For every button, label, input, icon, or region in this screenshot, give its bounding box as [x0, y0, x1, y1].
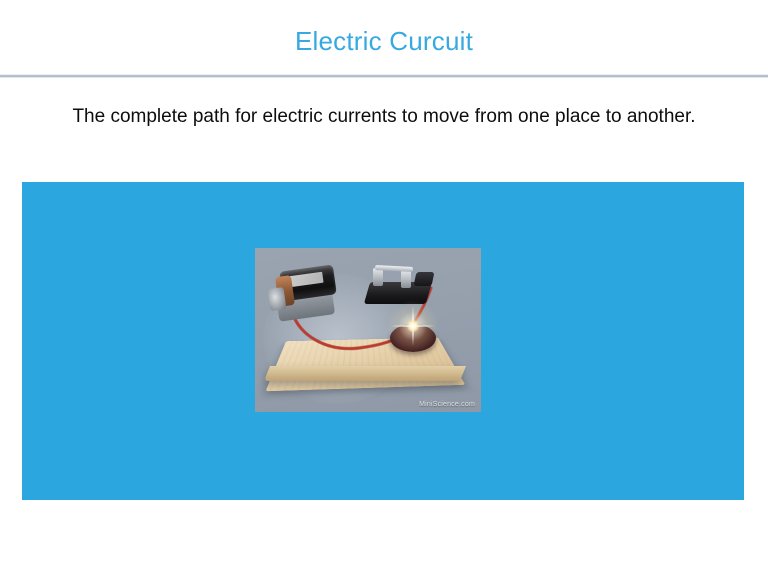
slide-title-area: Electric Curcuit	[0, 24, 768, 58]
knife-switch-handle	[414, 272, 435, 286]
knife-switch-post-right	[401, 270, 411, 288]
photo-watermark: MiniScience.com	[419, 401, 475, 408]
slide: Electric Curcuit The complete path for e…	[0, 0, 768, 561]
page-title: Electric Curcuit	[295, 26, 473, 56]
slide-body-text: The complete path for electric currents …	[40, 103, 728, 130]
content-panel: MiniScience.com	[22, 182, 744, 500]
lamp-bulb	[407, 320, 419, 332]
circuit-photo: MiniScience.com	[255, 248, 481, 412]
knife-switch-post-left	[373, 268, 383, 286]
battery-terminal-cap	[268, 287, 287, 311]
circuit-photo-scene: MiniScience.com	[255, 248, 481, 412]
title-divider	[0, 74, 768, 78]
